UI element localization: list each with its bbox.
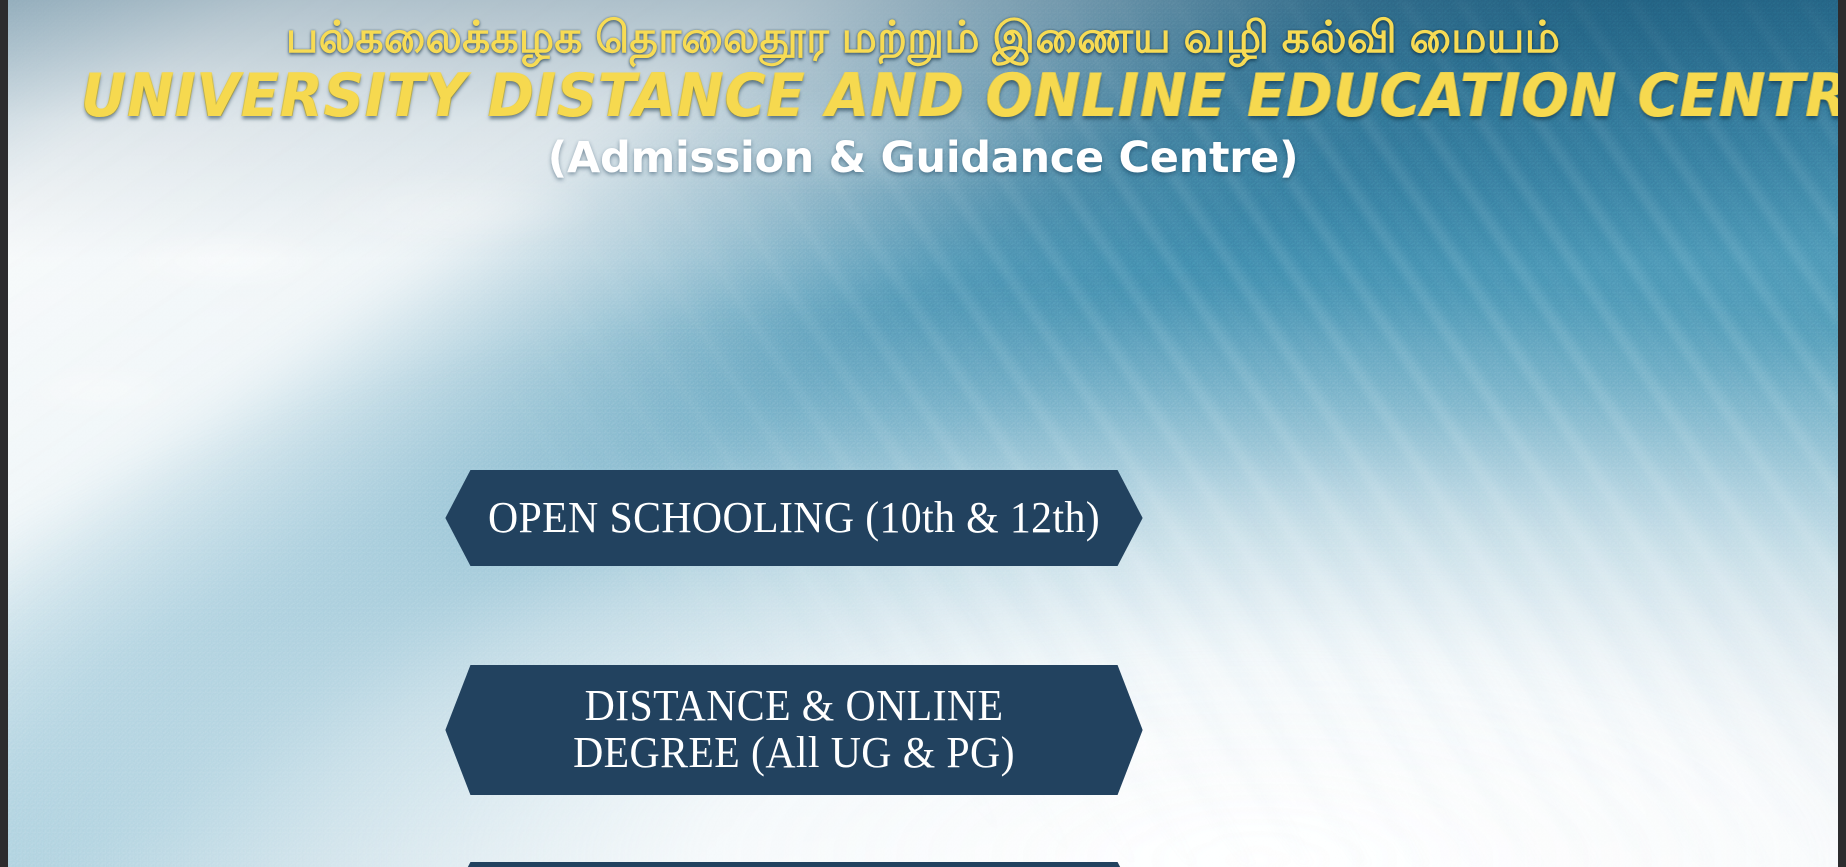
english-title: UNIVERSITY DISTANCE AND ONLINE EDUCATION… xyxy=(81,66,1765,126)
left-border-edge xyxy=(0,0,8,867)
poster-canvas: பல்கலைக்கழக தொலைதூர மற்றும் இணைய வழி கல்… xyxy=(0,0,1846,867)
banner-distance-online-degree-text: DISTANCE & ONLINE DEGREE (All UG & PG) xyxy=(445,683,1142,776)
banner-line: DISTANCE & ONLINE xyxy=(478,683,1111,730)
tamil-title: பல்கலைக்கழக தொலைதூர மற்றும் இணைய வழி கல்… xyxy=(8,14,1838,62)
banner-line: DEGREE (All UG & PG) xyxy=(478,730,1111,777)
banner-line: OPEN SCHOOLING (10th & 12th) xyxy=(478,495,1111,542)
banner-distance-online-degree[interactable]: DISTANCE & ONLINE DEGREE (All UG & PG) xyxy=(445,665,1142,795)
banner-open-schooling-text: OPEN SCHOOLING (10th & 12th) xyxy=(445,495,1142,542)
header-subtitle: (Admission & Guidance Centre) xyxy=(8,136,1838,181)
banner-third[interactable] xyxy=(445,862,1142,867)
poster-header: பல்கலைக்கழக தொலைதூர மற்றும் இணைய வழி கல்… xyxy=(8,0,1838,181)
right-border-edge xyxy=(1838,0,1846,867)
banner-open-schooling[interactable]: OPEN SCHOOLING (10th & 12th) xyxy=(445,470,1142,566)
